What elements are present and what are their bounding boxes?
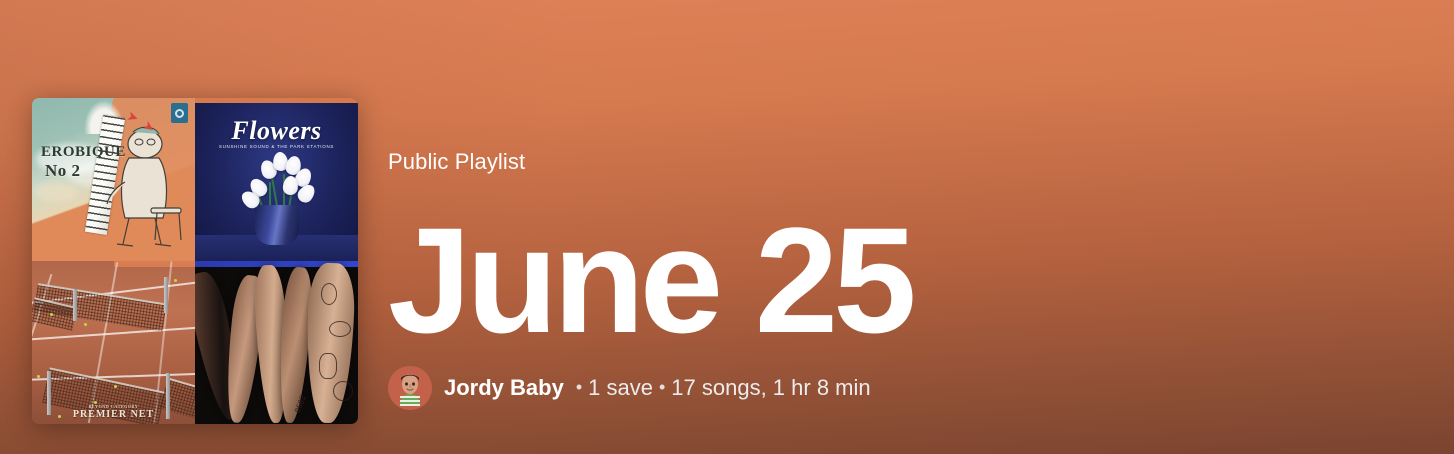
top-strip [195,98,358,103]
playlist-song-count-duration: 17 songs, 1 hr 8 min [671,377,870,399]
playlist-cover-collage[interactable]: ➤ ➤ EROBIQUE No 2 Flowers SUNSHINE SOUND… [32,98,358,424]
playlist-header-banner: ➤ ➤ EROBIQUE No 2 Flowers SUNSHINE SOUND… [0,0,1454,454]
net-post [164,277,168,313]
playlist-type-label: Public Playlist [388,150,1454,174]
tennis-ball [37,375,40,378]
playlist-owner-name[interactable]: Jordy Baby [444,377,564,399]
avatar[interactable] [388,366,432,410]
album-art-legs: 0602 [195,261,358,424]
album-art-premier-net: BEYOND CATEGORY PREMIER NET [32,261,195,424]
playlist-stats-row: Jordy Baby • 1 save • 17 songs, 1 hr 8 m… [388,366,1454,410]
label-badge-icon [171,103,188,123]
tennis-ball [174,279,177,282]
header-content: ➤ ➤ EROBIQUE No 2 Flowers SUNSHINE SOUND… [0,98,1454,454]
meta-separator: • [659,378,665,396]
album-art-flowers: Flowers SUNSHINE SOUND & THE PARK STATIO… [195,98,358,261]
album-title-flowers: Flowers [195,116,358,146]
blue-pitcher-vase [255,205,299,245]
album-title-erobique: EROBIQUE No 2 [41,144,126,180]
net-post [73,289,77,321]
playlist-save-count: 1 save [588,377,653,399]
album-title-premier-net: BEYOND CATEGORY PREMIER NET [32,404,195,420]
tattoo-mark [333,381,353,401]
tennis-ball [84,323,87,326]
album-subtitle-flowers: SUNSHINE SOUND & THE PARK STATIONS [195,144,358,149]
page-title[interactable]: June 25 [388,208,1454,352]
album-art-erobique: ➤ ➤ EROBIQUE No 2 [32,98,195,261]
tattoo-mark [329,321,351,337]
tennis-ball [114,385,117,388]
tennis-ball [50,313,53,316]
meta-separator: • [576,378,582,396]
bitmoji-avatar-icon [388,366,432,410]
horizon-strip [114,261,196,267]
playlist-meta-block: Public Playlist June 25 [358,150,1454,424]
tattoo-mark [321,283,337,305]
tattoo-mark [319,353,337,379]
pianist-illustration [99,122,191,250]
